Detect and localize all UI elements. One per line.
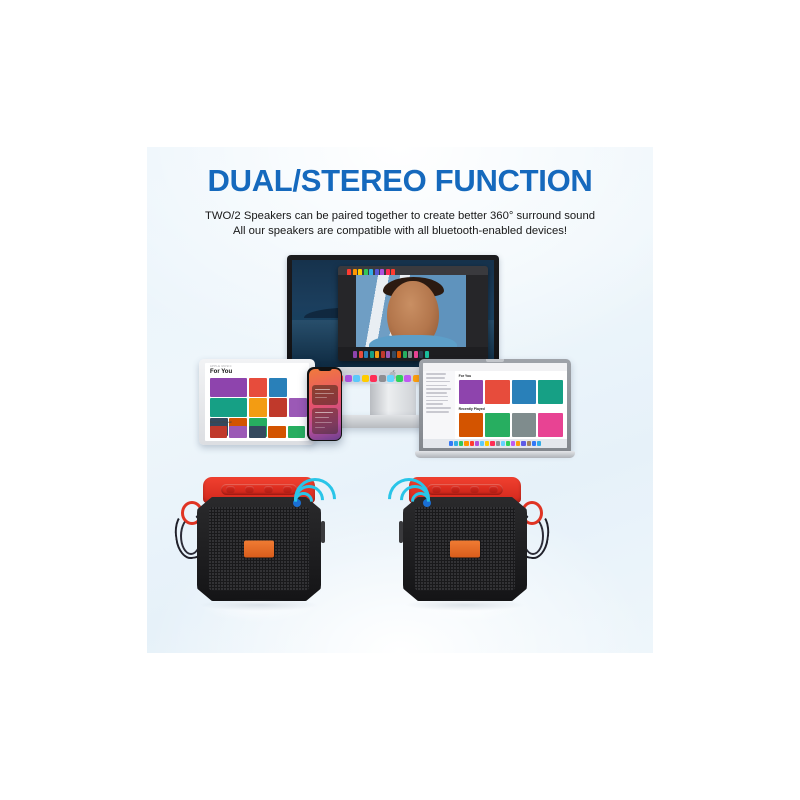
control-button-row[interactable] bbox=[427, 484, 503, 495]
dock-icon[interactable] bbox=[480, 441, 484, 445]
smartphone-device bbox=[307, 367, 342, 441]
sidebar-item[interactable] bbox=[426, 407, 451, 409]
imac-screen bbox=[292, 260, 494, 367]
brand-badge bbox=[244, 541, 274, 558]
sidebar-item[interactable] bbox=[426, 373, 446, 375]
dock-icon[interactable] bbox=[353, 375, 360, 382]
control-button[interactable] bbox=[451, 486, 460, 493]
filmstrip-thumb[interactable] bbox=[375, 351, 379, 358]
album-tile[interactable] bbox=[249, 398, 268, 417]
control-button[interactable] bbox=[264, 486, 273, 493]
music-heading: For You bbox=[210, 369, 232, 375]
album-tile[interactable] bbox=[512, 380, 537, 405]
album-tile[interactable] bbox=[485, 380, 510, 405]
portrait-photo bbox=[356, 275, 465, 346]
product-marketing-image: DUAL/STEREO FUNCTION TWO/2 Speakers can … bbox=[0, 0, 800, 800]
sidebar-item[interactable] bbox=[426, 377, 445, 379]
phone-screen bbox=[309, 369, 341, 440]
music-sidebar[interactable] bbox=[423, 371, 456, 439]
album-tile[interactable] bbox=[459, 413, 484, 438]
filmstrip-thumb[interactable] bbox=[392, 351, 396, 358]
music-heading: For You bbox=[459, 374, 567, 378]
dock-icon[interactable] bbox=[459, 441, 463, 445]
dock-icon[interactable] bbox=[470, 441, 474, 445]
brand-badge bbox=[450, 541, 480, 558]
album-tile[interactable] bbox=[210, 398, 247, 417]
album-tile[interactable] bbox=[538, 380, 563, 405]
dock-icon[interactable] bbox=[454, 441, 458, 445]
sidebar-item[interactable] bbox=[426, 396, 448, 398]
album-tile[interactable] bbox=[512, 413, 537, 438]
control-button[interactable] bbox=[489, 486, 498, 493]
laptop-screen: For You Recently Played bbox=[423, 363, 567, 448]
filmstrip-thumb[interactable] bbox=[403, 351, 407, 358]
album-grid-top[interactable] bbox=[459, 380, 563, 405]
dock-icon[interactable] bbox=[537, 441, 541, 445]
dock-icon[interactable] bbox=[496, 441, 500, 445]
recent-tile[interactable] bbox=[268, 426, 285, 438]
dock-icon[interactable] bbox=[511, 441, 515, 445]
filmstrip-thumb[interactable] bbox=[397, 351, 401, 358]
dock-icon[interactable] bbox=[396, 375, 403, 382]
bluetooth-pairing-waves bbox=[385, 473, 431, 517]
speaker-shadow bbox=[199, 599, 319, 611]
dock-icon[interactable] bbox=[370, 375, 377, 382]
content-panel: DUAL/STEREO FUNCTION TWO/2 Speakers can … bbox=[147, 147, 653, 653]
music-kicker: APPLE MUSIC bbox=[210, 365, 232, 368]
recent-tile[interactable] bbox=[249, 426, 266, 438]
tablet-screen: APPLE MUSIC For You Recently Played bbox=[205, 363, 309, 441]
recent-tile[interactable] bbox=[210, 426, 227, 438]
recent-tile[interactable] bbox=[288, 426, 305, 438]
dock-icon[interactable] bbox=[490, 441, 494, 445]
dock-icon[interactable] bbox=[379, 375, 386, 382]
portrait-shirt bbox=[369, 335, 456, 346]
subtitle-line-1: TWO/2 Speakers can be paired together to… bbox=[147, 209, 653, 224]
notification-card-secondary[interactable] bbox=[312, 408, 338, 434]
album-tile[interactable] bbox=[269, 398, 288, 417]
bluetooth-speaker-left[interactable] bbox=[189, 477, 329, 607]
recently-played-row[interactable] bbox=[210, 426, 305, 438]
dock-icon[interactable] bbox=[404, 375, 411, 382]
control-button[interactable] bbox=[470, 486, 479, 493]
imac-stand-neck bbox=[370, 381, 416, 419]
photo-editor-window bbox=[338, 266, 487, 360]
filmstrip-thumb[interactable] bbox=[414, 351, 418, 358]
dock-icon[interactable] bbox=[521, 441, 525, 445]
dock-icon[interactable] bbox=[485, 441, 489, 445]
music-content: For You Recently Played bbox=[455, 371, 567, 439]
dock-icon[interactable] bbox=[464, 441, 468, 445]
dock-icon[interactable] bbox=[501, 441, 505, 445]
dock-icon[interactable] bbox=[362, 375, 369, 382]
sidebar-item[interactable] bbox=[426, 381, 450, 383]
sidebar-item[interactable] bbox=[426, 400, 448, 402]
laptop-base bbox=[415, 451, 575, 458]
window-titlebar bbox=[338, 266, 487, 275]
subtitle-line-2: All our speakers are compatible with all… bbox=[147, 224, 653, 239]
bluetooth-speaker-right[interactable] bbox=[395, 477, 535, 607]
notification-card[interactable] bbox=[312, 385, 338, 405]
tablet-device: APPLE MUSIC For You Recently Played bbox=[199, 359, 315, 445]
recently-played-heading: Recently Played bbox=[210, 420, 231, 424]
album-tile[interactable] bbox=[538, 413, 563, 438]
sidebar-item[interactable] bbox=[426, 385, 447, 387]
control-button[interactable] bbox=[432, 486, 441, 493]
dock-icon[interactable] bbox=[527, 441, 531, 445]
album-tile[interactable] bbox=[459, 380, 484, 405]
filmstrip-thumb[interactable] bbox=[425, 351, 429, 358]
dock-icon[interactable] bbox=[516, 441, 520, 445]
dock-icon[interactable] bbox=[449, 441, 453, 445]
subtitle-block: TWO/2 Speakers can be paired together to… bbox=[147, 209, 653, 238]
filmstrip-thumb[interactable] bbox=[364, 351, 368, 358]
dock-icon[interactable] bbox=[345, 375, 352, 382]
dock-icon[interactable] bbox=[387, 375, 394, 382]
filmstrip-thumb[interactable] bbox=[408, 351, 412, 358]
power-button[interactable] bbox=[399, 521, 403, 543]
filmstrip-thumb[interactable] bbox=[419, 351, 423, 358]
phone-notch bbox=[318, 367, 332, 371]
album-tile[interactable] bbox=[210, 378, 247, 397]
filmstrip-thumb[interactable] bbox=[353, 351, 357, 358]
album-tile[interactable] bbox=[289, 398, 308, 417]
photo-canvas bbox=[356, 275, 465, 346]
album-tile[interactable] bbox=[269, 378, 288, 397]
speaker-shadow bbox=[405, 599, 525, 611]
album-grid-bottom[interactable] bbox=[459, 413, 563, 438]
laptop-device: For You Recently Played bbox=[415, 359, 575, 463]
control-button[interactable] bbox=[245, 486, 254, 493]
control-button[interactable] bbox=[226, 486, 235, 493]
laptop-dock[interactable] bbox=[423, 439, 567, 448]
album-tile[interactable] bbox=[485, 413, 510, 438]
laptop-camera bbox=[486, 359, 504, 362]
dock-icon[interactable] bbox=[532, 441, 536, 445]
filmstrip-thumb[interactable] bbox=[359, 351, 363, 358]
sidebar-item[interactable] bbox=[426, 403, 443, 405]
sidebar-item[interactable] bbox=[426, 392, 447, 394]
filmstrip-thumb[interactable] bbox=[370, 351, 374, 358]
dock-icon[interactable] bbox=[475, 441, 479, 445]
dock-icon[interactable] bbox=[506, 441, 510, 445]
bluetooth-pairing-waves bbox=[293, 473, 339, 517]
control-button-row[interactable] bbox=[221, 484, 297, 495]
filmstrip-thumb[interactable] bbox=[386, 351, 390, 358]
page-title: DUAL/STEREO FUNCTION bbox=[147, 163, 653, 199]
sidebar-item[interactable] bbox=[426, 388, 451, 390]
filmstrip-thumb[interactable] bbox=[381, 351, 385, 358]
control-button[interactable] bbox=[283, 486, 292, 493]
recent-tile[interactable] bbox=[229, 426, 246, 438]
sidebar-item[interactable] bbox=[426, 411, 449, 413]
album-tile[interactable] bbox=[249, 378, 268, 397]
power-button[interactable] bbox=[321, 521, 325, 543]
filmstrip-thumbs bbox=[353, 351, 429, 358]
laptop-lid: For You Recently Played bbox=[419, 359, 571, 452]
recently-played-heading: Recently Played bbox=[459, 407, 567, 411]
device-cluster: APPLE MUSIC For You Recently Played bbox=[147, 255, 653, 495]
